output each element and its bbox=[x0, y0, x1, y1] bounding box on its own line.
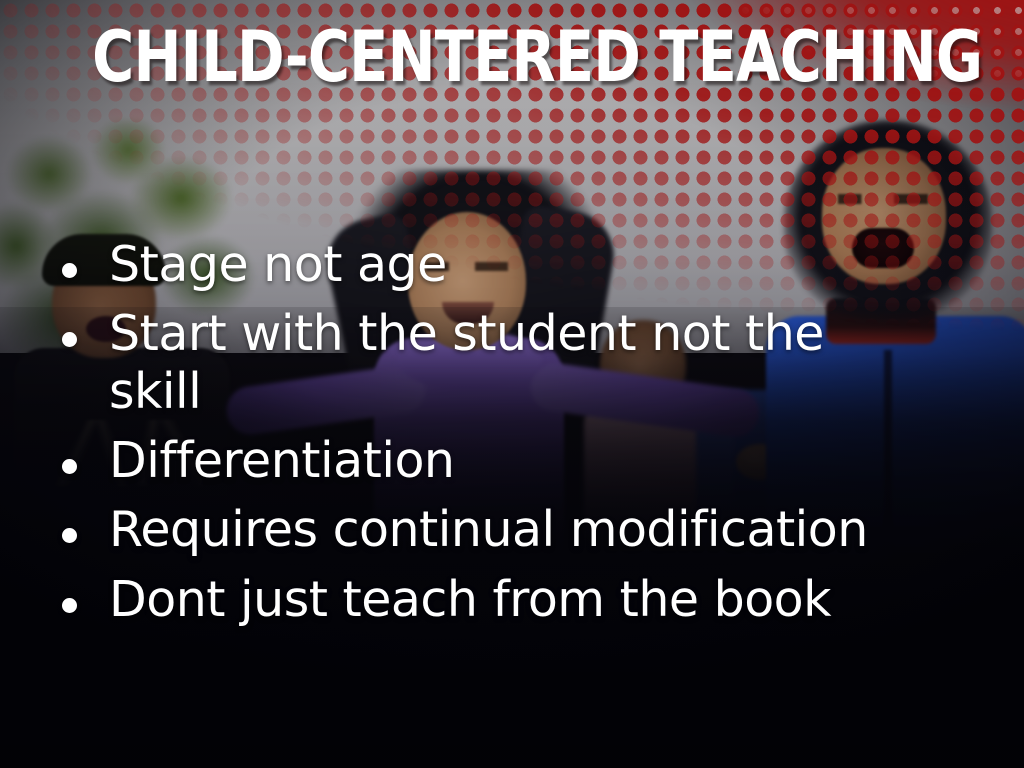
bullet-dot-icon bbox=[62, 598, 77, 613]
bullet-text: Start with the student not the skill bbox=[109, 305, 889, 420]
bullet-dot-icon bbox=[62, 332, 77, 347]
bullet-list: Stage not age Start with the student not… bbox=[56, 236, 976, 640]
list-item: Stage not age bbox=[56, 236, 976, 293]
bullet-dot-icon bbox=[62, 528, 77, 543]
presentation-slide: CHILD-CENTERED TEACHING Stage not age St… bbox=[0, 0, 1024, 768]
list-item: Dont just teach from the book bbox=[56, 571, 976, 628]
bullet-text: Requires continual modification bbox=[109, 501, 889, 558]
bullet-text: Dont just teach from the book bbox=[109, 571, 889, 628]
list-item: Requires continual modification bbox=[56, 501, 976, 558]
list-item: Differentiation bbox=[56, 432, 976, 489]
slide-title: CHILD-CENTERED TEACHING bbox=[92, 22, 932, 92]
bullet-text: Stage not age bbox=[109, 236, 889, 293]
bullet-dot-icon bbox=[62, 459, 77, 474]
bullet-text: Differentiation bbox=[109, 432, 889, 489]
bullet-dot-icon bbox=[62, 263, 77, 278]
list-item: Start with the student not the skill bbox=[56, 305, 976, 420]
